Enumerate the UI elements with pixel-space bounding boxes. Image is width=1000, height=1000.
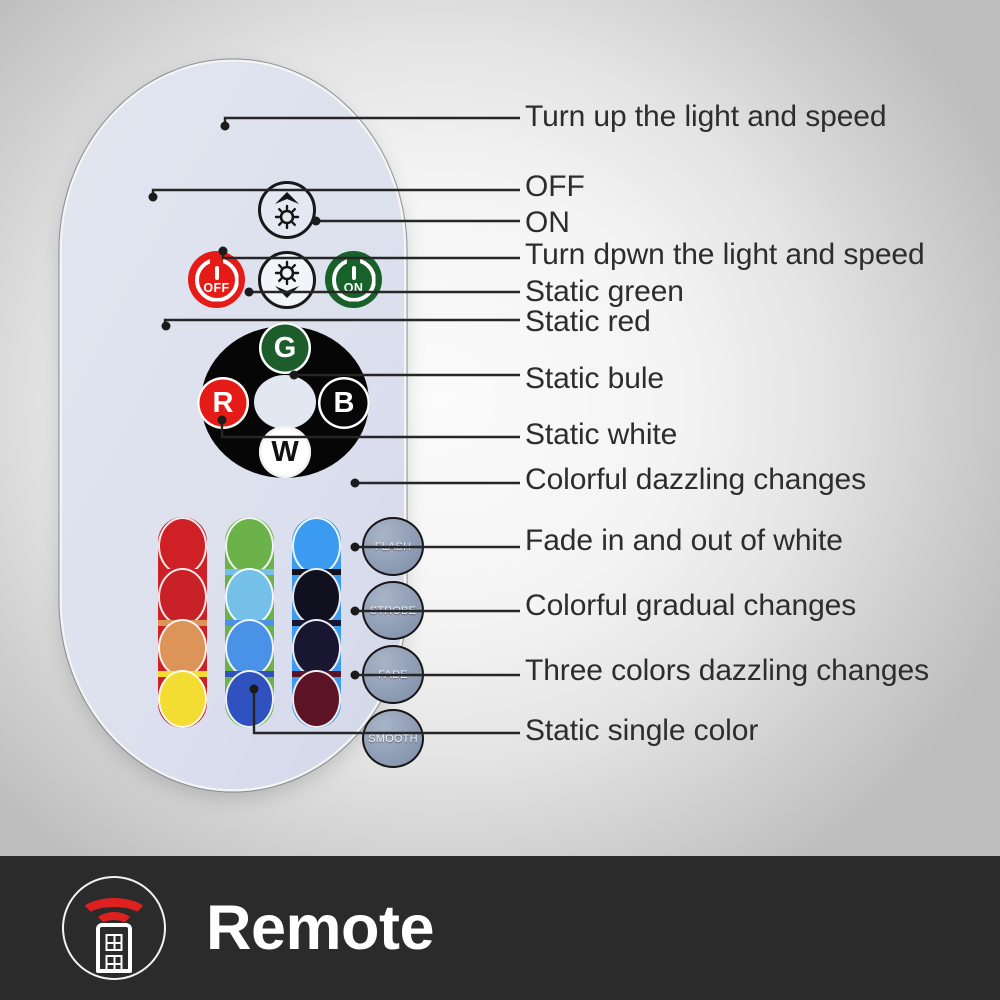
callout-label-off: OFF — [525, 172, 585, 202]
static-blue-button[interactable]: B — [318, 377, 370, 429]
chevron-up-sun-icon — [261, 184, 313, 236]
color-swatch[interactable] — [225, 619, 274, 677]
wheel-center — [254, 375, 316, 429]
blue-color-strip — [292, 517, 341, 728]
color-swatch[interactable] — [158, 670, 207, 728]
color-swatch[interactable] — [292, 517, 341, 575]
blue-label: B — [334, 389, 355, 418]
power-bar-icon — [352, 266, 356, 280]
bottom-banner: Remote — [0, 856, 1000, 1000]
remote-body-icon — [96, 923, 132, 973]
button-grid-top-icon — [106, 934, 123, 951]
green-label: G — [274, 334, 297, 363]
brightness-down-button[interactable] — [258, 251, 316, 309]
color-swatch[interactable] — [292, 568, 341, 626]
color-swatch[interactable] — [225, 670, 274, 728]
sun-chevron-down-icon — [261, 254, 313, 306]
color-swatch[interactable] — [225, 568, 274, 626]
color-swatch[interactable] — [292, 670, 341, 728]
callout-label-static-green: Static green — [525, 277, 684, 307]
power-on-button[interactable]: ON — [325, 251, 382, 308]
product-diagram: OFF ON G R B W FLASH STROBE FADE SMOOTH — [0, 0, 1000, 1000]
strobe-label: STROBE — [370, 605, 416, 617]
color-swatch[interactable] — [158, 568, 207, 626]
strobe-button[interactable]: STROBE — [362, 581, 424, 640]
green-color-strip — [225, 517, 274, 728]
flash-label: FLASH — [375, 541, 411, 553]
remote-signal-icon — [62, 876, 166, 980]
color-swatch[interactable] — [158, 517, 207, 575]
color-swatch[interactable] — [292, 619, 341, 677]
callout-label-static-red: Static red — [525, 307, 651, 337]
flash-button[interactable]: FLASH — [362, 517, 424, 576]
callout-label-turn-down: Turn dpwn the light and speed — [525, 240, 925, 270]
smooth-button[interactable]: SMOOTH — [362, 709, 424, 768]
white-label: W — [271, 438, 298, 467]
red-color-strip — [158, 517, 207, 728]
callout-label-smooth: Three colors dazzling changes — [525, 656, 929, 686]
rgbw-color-wheel: G R B W — [201, 326, 369, 478]
callout-label-on: ON — [525, 208, 570, 238]
callout-label-flash: Colorful dazzling changes — [525, 465, 866, 495]
power-off-button[interactable]: OFF — [188, 251, 245, 308]
power-on-label: ON — [325, 282, 382, 295]
callout-label-strobe: Fade in and out of white — [525, 526, 843, 556]
remote-control-body: OFF ON G R B W FLASH STROBE FADE SMOOTH — [62, 62, 404, 789]
color-swatch[interactable] — [158, 619, 207, 677]
static-white-button[interactable]: W — [259, 426, 311, 478]
callout-label-static-white: Static white — [525, 420, 677, 450]
static-green-button[interactable]: G — [259, 322, 311, 374]
banner-title: Remote — [206, 897, 434, 960]
callout-label-static-blue: Static bule — [525, 364, 664, 394]
brightness-up-button[interactable] — [258, 181, 316, 239]
power-bar-icon — [215, 266, 219, 280]
red-label: R — [213, 389, 234, 418]
static-red-button[interactable]: R — [197, 377, 249, 429]
smooth-label: SMOOTH — [368, 733, 417, 745]
callout-label-single-color: Static single color — [525, 716, 758, 746]
color-swatch[interactable] — [225, 517, 274, 575]
fade-label: FADE — [378, 669, 408, 681]
power-off-label: OFF — [188, 282, 245, 295]
callout-label-turn-up: Turn up the light and speed — [525, 102, 886, 132]
button-grid-bottom-icon — [106, 955, 123, 972]
callout-label-fade: Colorful gradual changes — [525, 591, 856, 621]
fade-button[interactable]: FADE — [362, 645, 424, 704]
